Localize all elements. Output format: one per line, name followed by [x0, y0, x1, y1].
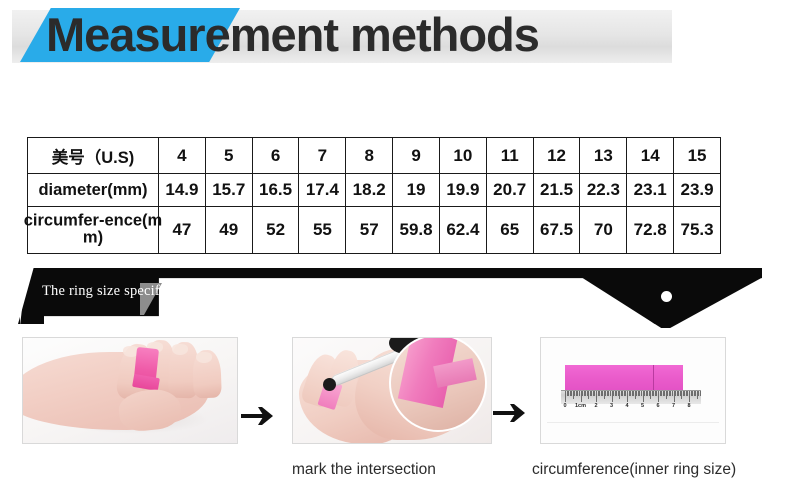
cell-circumference: 62.4: [439, 207, 486, 254]
cell-us-size: 15: [674, 138, 721, 174]
page-header: Measurement methods: [0, 0, 800, 80]
page-title: Measurement methods: [46, 5, 539, 65]
cell-diameter: 16.5: [252, 174, 299, 207]
ruler-label: 8: [687, 403, 690, 409]
cell-us-size: 4: [159, 138, 206, 174]
cell-circumference: 67.5: [533, 207, 580, 254]
row-header-circumference: circumfer-ence(mm): [28, 207, 159, 254]
cell-diameter: 18.2: [346, 174, 393, 207]
caption-circumference: circumference(inner ring size): [532, 461, 736, 479]
cell-circumference: 49: [205, 207, 252, 254]
step-photo-measure-circumference: 01cm2345678: [540, 337, 726, 444]
cell-circumference: 59.8: [393, 207, 440, 254]
photo1-nail: [172, 344, 188, 355]
ruler-label: 1cm: [575, 403, 586, 409]
cell-diameter: 23.9: [674, 174, 721, 207]
photo3-strip-mark: [653, 365, 654, 390]
cell-us-size: 12: [533, 138, 580, 174]
cell-us-size: 7: [299, 138, 346, 174]
photo3-paper-strip: [565, 365, 683, 390]
banner-label: The ring size specification: [42, 283, 201, 300]
photo2-pen-tip: [323, 378, 336, 391]
cell-circumference: 55: [299, 207, 346, 254]
step-photo-wrap-finger: [22, 337, 238, 444]
cell-diameter: 19: [393, 174, 440, 207]
cell-diameter: 21.5: [533, 174, 580, 207]
table-row-circumference: circumfer-ence(mm) 47 49 52 55 57 59.8 6…: [28, 207, 721, 254]
cell-diameter: 19.9: [439, 174, 486, 207]
cell-diameter: 23.1: [627, 174, 674, 207]
arrow-right-icon: [492, 400, 530, 426]
cell-us-size: 10: [439, 138, 486, 174]
table-row-us-size: 美号（U.S) 4 5 6 7 8 9 10 11 12 13 14 15: [28, 138, 721, 174]
banner-dot-icon: [661, 291, 672, 302]
ruler-label: 4: [625, 403, 628, 409]
ruler-label: 6: [656, 403, 659, 409]
cell-diameter: 17.4: [299, 174, 346, 207]
cell-circumference: 75.3: [674, 207, 721, 254]
cell-us-size: 14: [627, 138, 674, 174]
photo3-divider: [547, 422, 719, 423]
ring-size-table: 美号（U.S) 4 5 6 7 8 9 10 11 12 13 14 15 di…: [27, 137, 721, 254]
row-header-circumference-text: circumfer-ence(mm): [18, 213, 168, 248]
cell-circumference: 57: [346, 207, 393, 254]
ring-size-table-wrap: 美号（U.S) 4 5 6 7 8 9 10 11 12 13 14 15 di…: [27, 137, 721, 254]
ruler-tick: [700, 391, 701, 396]
cell-us-size: 6: [252, 138, 299, 174]
row-header-diameter: diameter(mm): [28, 174, 159, 207]
photo2-zoom-inset: [389, 337, 487, 432]
ruler-label: 2: [594, 403, 597, 409]
cell-diameter: 15.7: [205, 174, 252, 207]
arrow-right-icon: [240, 403, 278, 429]
ruler-icon: [561, 390, 701, 404]
ruler-label: 3: [610, 403, 613, 409]
cell-circumference: 52: [252, 207, 299, 254]
photo1-nail: [196, 352, 212, 363]
banner-chevron-shape: [582, 268, 762, 328]
cell-diameter: 20.7: [486, 174, 533, 207]
cell-us-size: 11: [486, 138, 533, 174]
cell-circumference: 65: [486, 207, 533, 254]
cell-circumference: 72.8: [627, 207, 674, 254]
cell-circumference: 70: [580, 207, 627, 254]
step-photo-mark-intersection: [292, 337, 492, 444]
ruler-labels: 01cm2345678: [561, 403, 701, 415]
row-header-us-size: 美号（U.S): [28, 138, 159, 174]
cell-diameter: 14.9: [159, 174, 206, 207]
cell-diameter: 22.3: [580, 174, 627, 207]
table-row-diameter: diameter(mm) 14.9 15.7 16.5 17.4 18.2 19…: [28, 174, 721, 207]
caption-mark-intersection: mark the intersection: [292, 461, 436, 479]
cell-us-size: 13: [580, 138, 627, 174]
cell-us-size: 9: [393, 138, 440, 174]
cell-us-size: 8: [346, 138, 393, 174]
ruler-label: 7: [672, 403, 675, 409]
ruler-label: 5: [641, 403, 644, 409]
cell-us-size: 5: [205, 138, 252, 174]
ruler-label: 0: [563, 403, 566, 409]
